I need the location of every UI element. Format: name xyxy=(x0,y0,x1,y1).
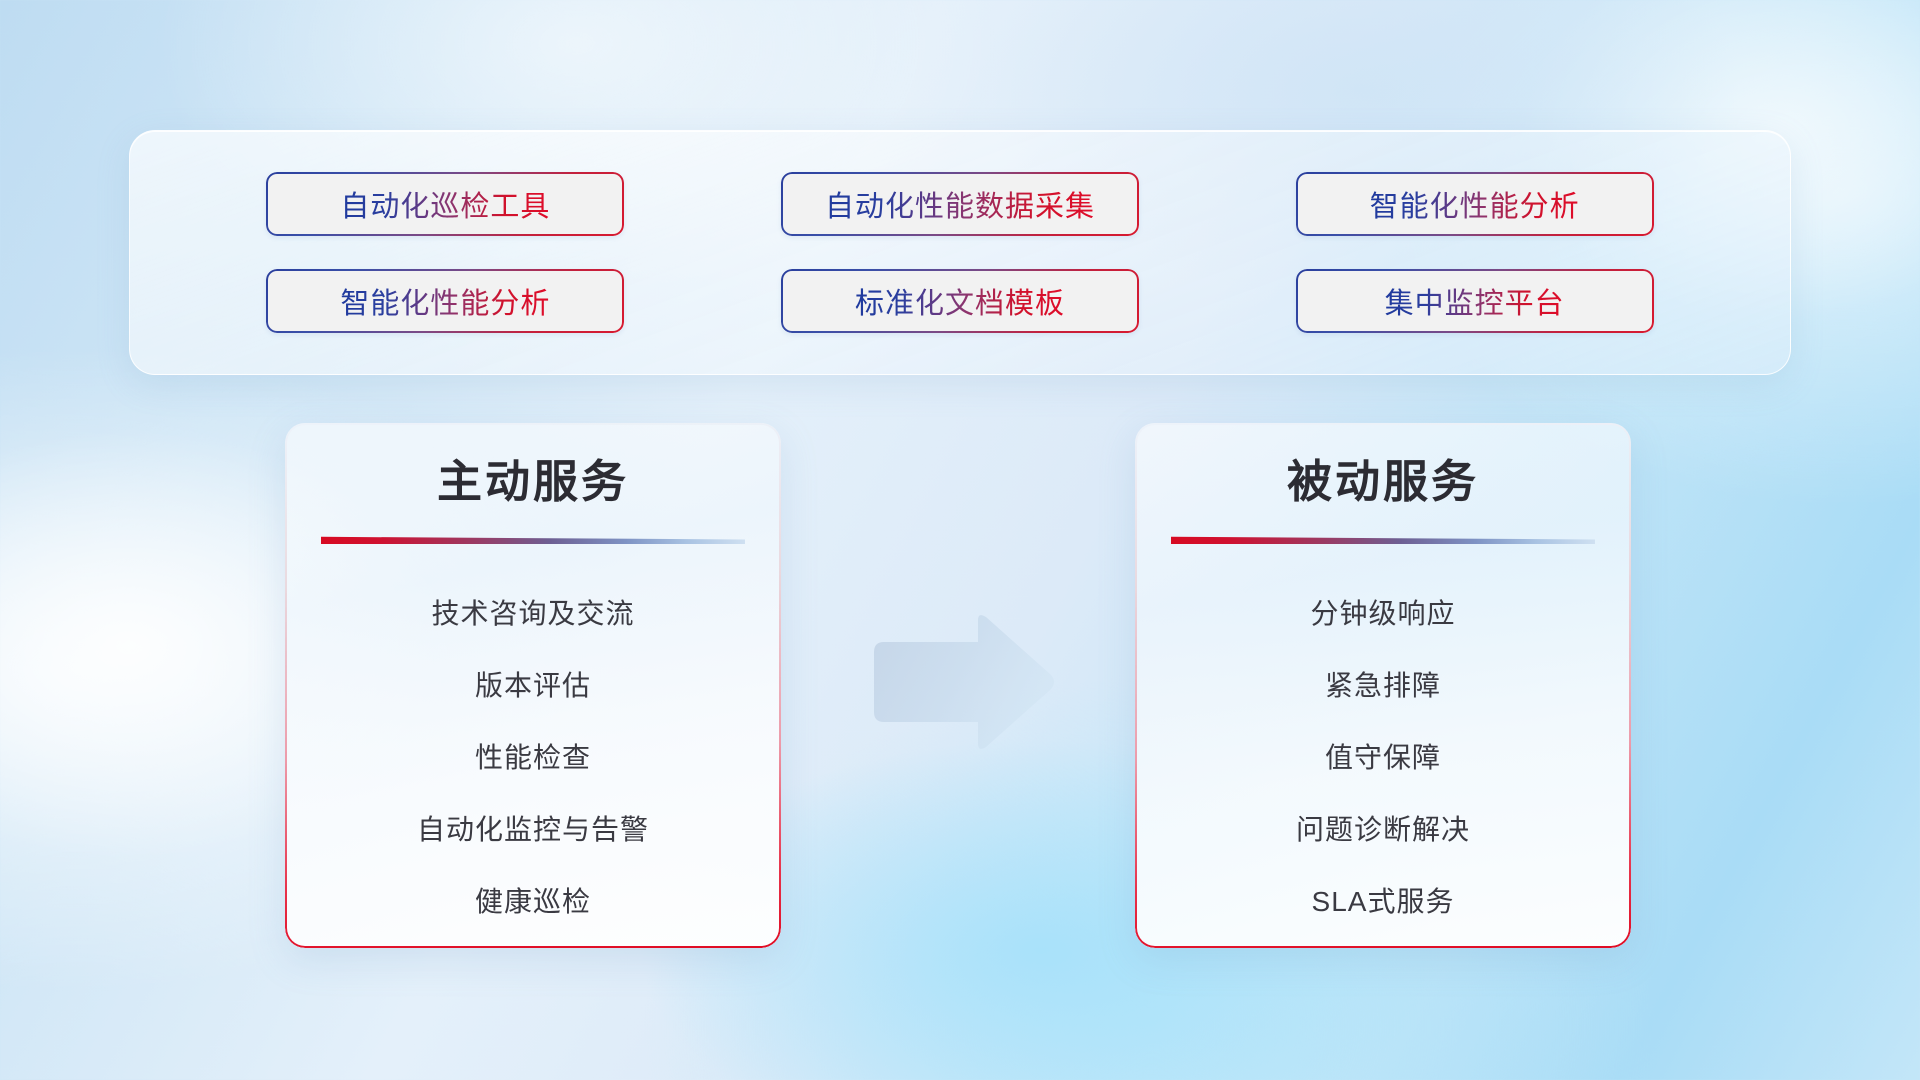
capability-pill[interactable]: 标准化文档模板 xyxy=(781,269,1139,333)
service-list-item: 值守保障 xyxy=(1325,720,1441,792)
title-divider xyxy=(1171,535,1595,544)
capability-pill[interactable]: 智能化性能分析 xyxy=(1296,172,1654,236)
capability-pill-label: 智能化性能分析 xyxy=(340,280,550,322)
capability-pill[interactable]: 智能化性能分析 xyxy=(266,269,624,333)
service-list-item: 分钟级响应 xyxy=(1310,576,1455,648)
arrow-right-icon xyxy=(868,612,1058,752)
service-item-list: 分钟级响应 紧急排障 值守保障 问题诊断解决 SLA式服务 xyxy=(1135,576,1631,936)
capability-pills-panel: 自动化巡检工具 自动化性能数据采集 智能化性能分析 智能化性能分析 标准化文档模… xyxy=(129,130,1791,375)
capability-pill[interactable]: 自动化性能数据采集 xyxy=(781,172,1139,236)
title-divider-bar xyxy=(1171,535,1595,544)
flow-arrow xyxy=(868,612,1058,752)
service-card-inner: 被动服务 分钟级响应 紧急排障 值守保障 问题诊断解决 SLA式服务 xyxy=(1135,423,1631,948)
capability-pill-label: 标准化文档模板 xyxy=(855,280,1065,322)
capability-pill-label: 自动化性能数据采集 xyxy=(825,183,1095,225)
service-list-item: 版本评估 xyxy=(475,648,591,720)
service-card-inner: 主动服务 技术咨询及交流 版本评估 性能检查 自动化监控与告警 健康巡检 xyxy=(285,423,781,948)
service-card-title: 被动服务 xyxy=(1287,455,1479,509)
capability-pill-grid: 自动化巡检工具 自动化性能数据采集 智能化性能分析 智能化性能分析 标准化文档模… xyxy=(130,131,1790,374)
service-list-item: 技术咨询及交流 xyxy=(431,576,634,648)
capability-pill[interactable]: 集中监控平台 xyxy=(1296,269,1654,333)
service-card-proactive: 主动服务 技术咨询及交流 版本评估 性能检查 自动化监控与告警 健康巡检 xyxy=(285,423,781,948)
capability-pill-label: 集中监控平台 xyxy=(1385,280,1565,322)
service-list-item: 问题诊断解决 xyxy=(1296,792,1470,864)
capability-pill[interactable]: 自动化巡检工具 xyxy=(266,172,624,236)
capability-pill-label: 智能化性能分析 xyxy=(1370,183,1580,225)
service-list-item: SLA式服务 xyxy=(1312,864,1455,936)
capability-pill-label: 自动化巡检工具 xyxy=(340,183,550,225)
service-list-item: 紧急排障 xyxy=(1325,648,1441,720)
service-list-item: 健康巡检 xyxy=(475,864,591,936)
service-card-title: 主动服务 xyxy=(437,455,629,509)
title-divider-bar xyxy=(321,535,745,544)
service-list-item: 自动化监控与告警 xyxy=(417,792,649,864)
service-card-reactive: 被动服务 分钟级响应 紧急排障 值守保障 问题诊断解决 SLA式服务 xyxy=(1135,423,1631,948)
service-list-item: 性能检查 xyxy=(475,720,591,792)
service-item-list: 技术咨询及交流 版本评估 性能检查 自动化监控与告警 健康巡检 xyxy=(285,576,781,936)
title-divider xyxy=(321,535,745,544)
